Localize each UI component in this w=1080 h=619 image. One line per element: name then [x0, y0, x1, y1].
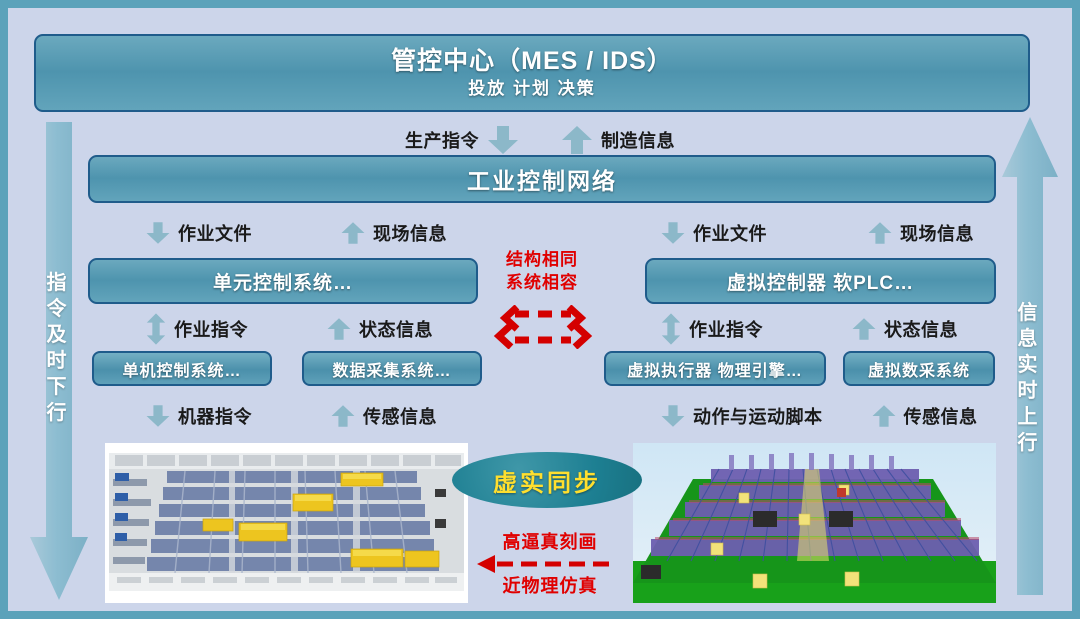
compatibility-line-2: 系统相容 — [483, 271, 601, 294]
management-center-title: 管控中心（MES / IDS） — [391, 46, 673, 76]
right-flow-status-info: 状态信息 — [851, 314, 958, 344]
right-flow-row-2: 作业指令 状态信息 — [660, 312, 958, 346]
diagram-root: 管控中心（MES / IDS） 投放 计划 决策 生产指令 制造信息 工业控制网… — [0, 0, 1080, 619]
virtual-controller-label: 虚拟控制器 软PLC… — [727, 268, 914, 295]
arrow-up-icon — [330, 401, 356, 431]
fidelity-annotation: 高逼真刻画 近物理仿真 — [472, 530, 628, 598]
flow-production-order-label: 生产指令 — [405, 127, 479, 153]
left-flow-row-3: 机器指令 传感信息 — [145, 401, 437, 431]
cell-control-system-box[interactable]: 单元控制系统… — [88, 258, 478, 304]
left-flow-job-command: 作业指令 — [145, 312, 248, 346]
right-flow-row-1: 作业文件 现场信息 — [660, 218, 974, 248]
fidelity-line-2: 近物理仿真 — [472, 574, 628, 598]
arrow-down-icon — [660, 218, 686, 248]
right-flow-site-info: 现场信息 — [867, 218, 974, 248]
right-flow-motion-script-label: 动作与运动脚本 — [693, 403, 823, 429]
right-flow-sensor-info-label: 传感信息 — [904, 403, 978, 429]
left-flow-sensor-info: 传感信息 — [330, 401, 437, 431]
right-flow-motion-script: 动作与运动脚本 — [660, 401, 823, 431]
information-uplink-arrow: 信息实时上行 — [1000, 115, 1060, 597]
left-flow-status-info-label: 状态信息 — [359, 316, 433, 342]
top-flow-row: 生产指令 制造信息 — [8, 125, 1072, 155]
data-acquisition-system-label: 数据采集系统… — [332, 357, 451, 381]
left-flow-job-command-label: 作业指令 — [174, 316, 248, 342]
arrow-down-icon — [145, 218, 171, 248]
virtual-executor-physics-engine-box[interactable]: 虚拟执行器 物理引擎… — [604, 351, 826, 386]
left-flow-machine-command: 机器指令 — [145, 401, 252, 431]
real-warehouse-photo — [105, 443, 468, 603]
left-flow-sensor-info-label: 传感信息 — [363, 403, 437, 429]
arrow-down-icon — [660, 401, 686, 431]
left-flow-row-1: 作业文件 现场信息 — [145, 218, 447, 248]
left-flow-site-info-label: 现场信息 — [373, 220, 447, 246]
right-flow-job-command-label: 作业指令 — [689, 316, 763, 342]
command-downlink-label: 指令及时下行 — [28, 270, 90, 426]
bidirectional-dashed-arrow-icon — [493, 305, 593, 349]
arrow-up-icon — [867, 218, 893, 248]
arrow-up-down-icon — [145, 312, 167, 346]
standalone-control-system-box[interactable]: 单机控制系统… — [92, 351, 272, 386]
diagram-canvas: 管控中心（MES / IDS） 投放 计划 决策 生产指令 制造信息 工业控制网… — [8, 8, 1072, 611]
left-flow-job-file: 作业文件 — [145, 218, 252, 248]
arrow-up-icon — [326, 314, 352, 344]
arrow-up-icon — [851, 314, 877, 344]
arrow-down-icon — [486, 125, 520, 155]
arrow-up-down-icon — [660, 312, 682, 346]
industrial-control-network-label: 工业控制网络 — [467, 162, 617, 196]
virtual-controller-box[interactable]: 虚拟控制器 软PLC… — [645, 258, 996, 304]
standalone-control-system-label: 单机控制系统… — [122, 357, 241, 381]
arrow-down-icon — [145, 401, 171, 431]
right-flow-sensor-info: 传感信息 — [871, 401, 978, 431]
arrow-up-icon — [340, 218, 366, 248]
flow-manufacturing-info: 制造信息 — [560, 125, 675, 155]
right-flow-row-3: 动作与运动脚本 传感信息 — [660, 401, 978, 431]
left-flow-machine-command-label: 机器指令 — [178, 403, 252, 429]
compatibility-note: 结构相同 系统相容 — [483, 248, 601, 294]
sync-badge-label: 虚实同步 — [493, 463, 601, 498]
virtual-data-acquisition-box[interactable]: 虚拟数采系统 — [843, 351, 995, 386]
data-acquisition-system-box[interactable]: 数据采集系统… — [302, 351, 482, 386]
left-flow-status-info: 状态信息 — [326, 314, 433, 344]
right-flow-status-info-label: 状态信息 — [884, 316, 958, 342]
virtual-executor-physics-engine-label: 虚拟执行器 物理引擎… — [627, 357, 802, 381]
command-downlink-arrow: 指令及时下行 — [28, 122, 90, 604]
information-uplink-label: 信息实时上行 — [1000, 300, 1060, 456]
sync-badge[interactable]: 虚实同步 — [452, 452, 642, 508]
compatibility-line-1: 结构相同 — [483, 248, 601, 271]
right-flow-site-info-label: 现场信息 — [900, 220, 974, 246]
arrow-up-icon — [871, 401, 897, 431]
arrow-up-icon — [560, 125, 594, 155]
cell-control-system-label: 单元控制系统… — [213, 268, 353, 295]
flow-manufacturing-info-label: 制造信息 — [601, 127, 675, 153]
virtual-data-acquisition-label: 虚拟数采系统 — [868, 357, 970, 381]
flow-production-order: 生产指令 — [405, 125, 520, 155]
simulation-render-image — [633, 443, 996, 603]
right-flow-job-file-label: 作业文件 — [693, 220, 767, 246]
left-flow-row-2: 作业指令 状态信息 — [145, 312, 433, 346]
left-flow-site-info: 现场信息 — [340, 218, 447, 248]
management-center-box[interactable]: 管控中心（MES / IDS） 投放 计划 决策 — [34, 34, 1030, 112]
fidelity-line-1: 高逼真刻画 — [472, 530, 628, 554]
right-flow-job-command: 作业指令 — [660, 312, 763, 346]
management-center-subtitle: 投放 计划 决策 — [468, 78, 595, 100]
fidelity-arrow-left-icon — [472, 554, 628, 574]
industrial-control-network-box[interactable]: 工业控制网络 — [88, 155, 996, 203]
left-flow-job-file-label: 作业文件 — [178, 220, 252, 246]
right-flow-job-file: 作业文件 — [660, 218, 767, 248]
